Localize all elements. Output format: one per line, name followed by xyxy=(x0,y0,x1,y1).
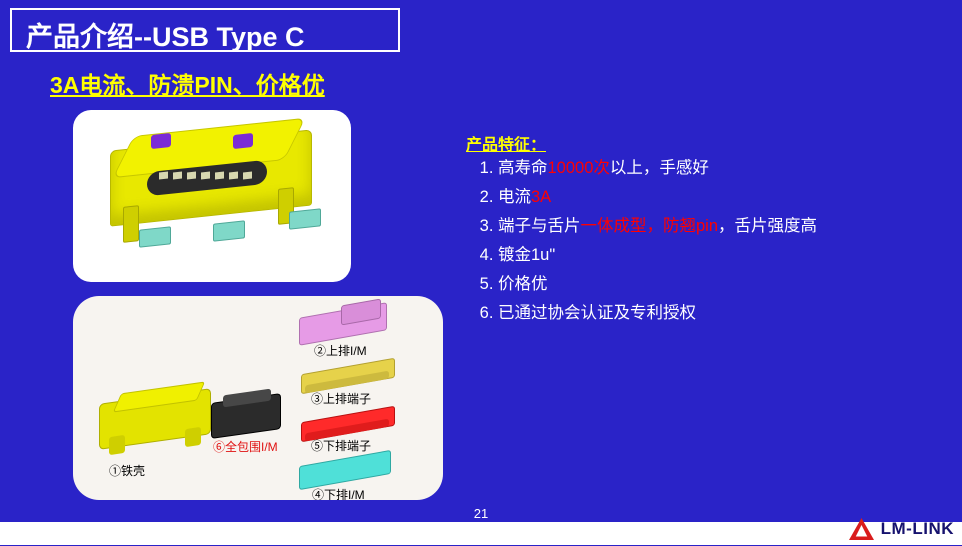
feature-text: 已通过协会认证及专利授权 xyxy=(498,304,696,322)
connector-pin-icon xyxy=(215,172,224,180)
list-item: 端子与舌片一体成型，防翘pin，舌片强度高 xyxy=(498,212,817,241)
part-label-5: ⑤下排端子 xyxy=(311,437,371,454)
list-item: 已通过协会认证及专利授权 xyxy=(498,299,817,328)
connector-pin-icon xyxy=(201,172,210,180)
lm-link-wordmark: LM-LINK xyxy=(881,519,954,539)
page-number: 21 xyxy=(0,506,962,521)
features-list: 高寿命10000次以上，手感好 电流3A 端子与舌片一体成型，防翘pin，舌片强… xyxy=(466,154,817,328)
connector-photo-card xyxy=(73,110,351,282)
connector-pin-icon xyxy=(187,172,196,180)
subtitle: 3A电流、防溃PIN、价格优 xyxy=(50,66,325,100)
footer-bar xyxy=(0,522,962,545)
list-item: 价格优 xyxy=(498,270,817,299)
part-label-4: ④下排I/M xyxy=(312,486,365,500)
feature-highlight: 10000次 xyxy=(548,159,610,177)
feature-text: 价格优 xyxy=(498,275,548,293)
list-item: 镀金1u" xyxy=(498,241,817,270)
connector-solder-tab-icon xyxy=(139,226,171,247)
feature-text-tail: ，舌片强度高 xyxy=(718,217,817,235)
part-label-6: ⑥全包围I/M xyxy=(213,438,278,455)
connector-pin-icon xyxy=(159,172,168,180)
part-label-2: ②上排I/M xyxy=(314,342,367,359)
part-label-1: ①铁壳 xyxy=(109,462,145,479)
feature-highlight: 3A xyxy=(531,188,551,206)
list-item: 电流3A xyxy=(498,183,817,212)
company-logo: LM-LINK xyxy=(848,514,954,544)
lm-link-mark-icon xyxy=(848,517,875,541)
feature-text: 端子与舌片 xyxy=(498,217,581,235)
connector-notch-left-icon xyxy=(151,133,171,149)
exploded-view-card: ②上排I/M ③上排端子 ⑤下排端子 ④下排I/M ⑥全包围I/M ①铁壳 xyxy=(73,296,443,500)
part-label-3: ③上排端子 xyxy=(311,390,371,407)
feature-text: 高寿命 xyxy=(498,159,548,177)
connector-solder-tab-icon xyxy=(289,208,321,229)
slide-root: 产品介绍--USB Type C 3A电流、防溃PIN、价格优 ②上排I/M ③… xyxy=(0,0,962,545)
connector-pin-icon xyxy=(229,172,238,180)
title-box: 产品介绍--USB Type C xyxy=(10,8,400,52)
connector-leg-icon xyxy=(123,205,139,243)
connector-pin-icon xyxy=(173,172,182,180)
part-metal-shell-leg-icon xyxy=(109,435,125,455)
list-item: 高寿命10000次以上，手感好 xyxy=(498,154,817,183)
feature-highlight: 一体成型，防翘pin xyxy=(581,217,719,235)
feature-text: 镀金1u" xyxy=(498,246,555,264)
part-lower-im-icon xyxy=(299,450,391,490)
connector-solder-tab-icon xyxy=(213,220,245,241)
part-metal-shell-leg-icon xyxy=(185,427,201,447)
page-title: 产品介绍--USB Type C xyxy=(26,15,305,54)
connector-pin-icon xyxy=(243,172,252,180)
connector-notch-right-icon xyxy=(233,133,253,149)
features-heading: 产品特征： xyxy=(466,131,546,155)
feature-text-tail: 以上，手感好 xyxy=(610,159,709,177)
feature-text: 电流 xyxy=(498,188,531,206)
